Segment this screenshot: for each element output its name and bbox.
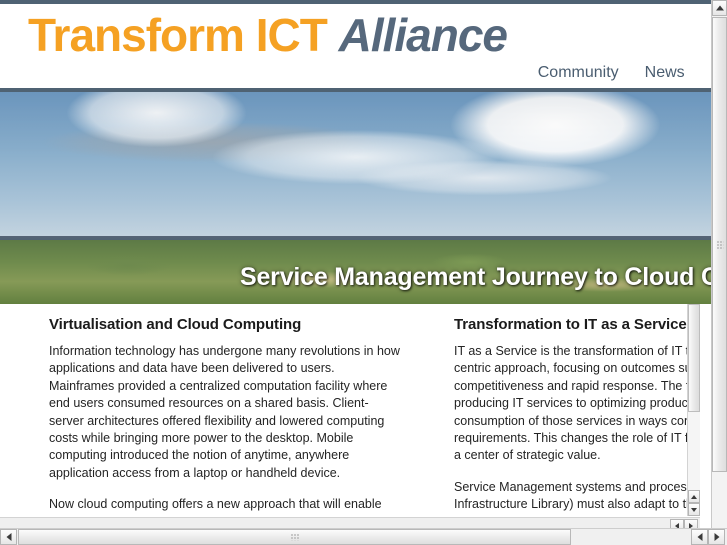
content-scroll-area: Virtualisation and Cloud Computing Infor… [0,304,700,516]
logo-text-alliance: Alliance [339,9,507,61]
page-document: Transform ICT Alliance Community News Pa… [0,0,712,528]
hero-banner: Service Management Journey to Cloud Comp [0,92,712,304]
scroll-left-button-secondary[interactable] [691,529,708,545]
inner-scroll-up-button[interactable] [688,490,700,503]
content-region: Virtualisation and Cloud Computing Infor… [0,304,712,528]
nav-item-news[interactable]: News [645,64,685,82]
inner-scroll-left-button[interactable] [670,519,684,528]
chevron-down-icon [691,508,697,512]
site-header: Transform ICT Alliance Community News Pa… [0,4,712,92]
chevron-up-icon [691,495,697,499]
outer-horizontal-scrollbar-thumb[interactable] [18,529,571,545]
site-logo[interactable]: Transform ICT Alliance [28,8,507,62]
inner-horizontal-arrow-pair [670,519,698,528]
scroll-left-button[interactable] [0,529,17,545]
hero-caption: Service Management Journey to Cloud Comp [240,263,712,292]
column-heading: Virtualisation and Cloud Computing [49,316,401,333]
chevron-left-icon [6,533,11,541]
scrollbar-grip-icon [716,240,723,249]
inner-scroll-right-button[interactable] [684,519,698,528]
column-paragraph: Now cloud computing offers a new approac… [49,496,401,516]
column-heading: Transformation to IT as a Service [454,316,700,333]
column-paragraph: IT as a Service is the transformation of… [454,343,700,465]
column-virtualisation: Virtualisation and Cloud Computing Infor… [49,316,401,516]
primary-navigation: Community News Part [538,64,712,82]
nav-item-community[interactable]: Community [538,64,619,82]
column-paragraph: Service Management systems and processes… [454,479,700,516]
scroll-up-button[interactable] [712,0,727,16]
inner-horizontal-scrollbar[interactable] [0,517,700,528]
scroll-right-button[interactable] [708,529,725,545]
outer-horizontal-scrollbar[interactable] [0,528,727,545]
logo-text-transform-ict: Transform ICT [28,9,339,61]
inner-scroll-down-button[interactable] [688,503,700,516]
chevron-right-icon [714,533,719,541]
inner-vertical-scrollbar[interactable] [687,304,700,516]
scrollbar-grip-icon [290,534,299,541]
column-it-as-a-service: Transformation to IT as a Service IT as … [454,316,700,516]
outer-horizontal-arrow-pair [691,529,725,545]
chevron-left-icon [697,533,702,541]
content-columns: Virtualisation and Cloud Computing Infor… [49,316,700,516]
inner-vertical-scrollbar-thumb[interactable] [688,304,700,412]
outer-vertical-scrollbar-thumb[interactable] [712,17,727,472]
column-paragraph: Information technology has undergone man… [49,343,401,482]
chevron-up-icon [716,6,724,11]
outer-vertical-scrollbar[interactable] [711,0,727,529]
browser-viewport: Transform ICT Alliance Community News Pa… [0,0,727,545]
